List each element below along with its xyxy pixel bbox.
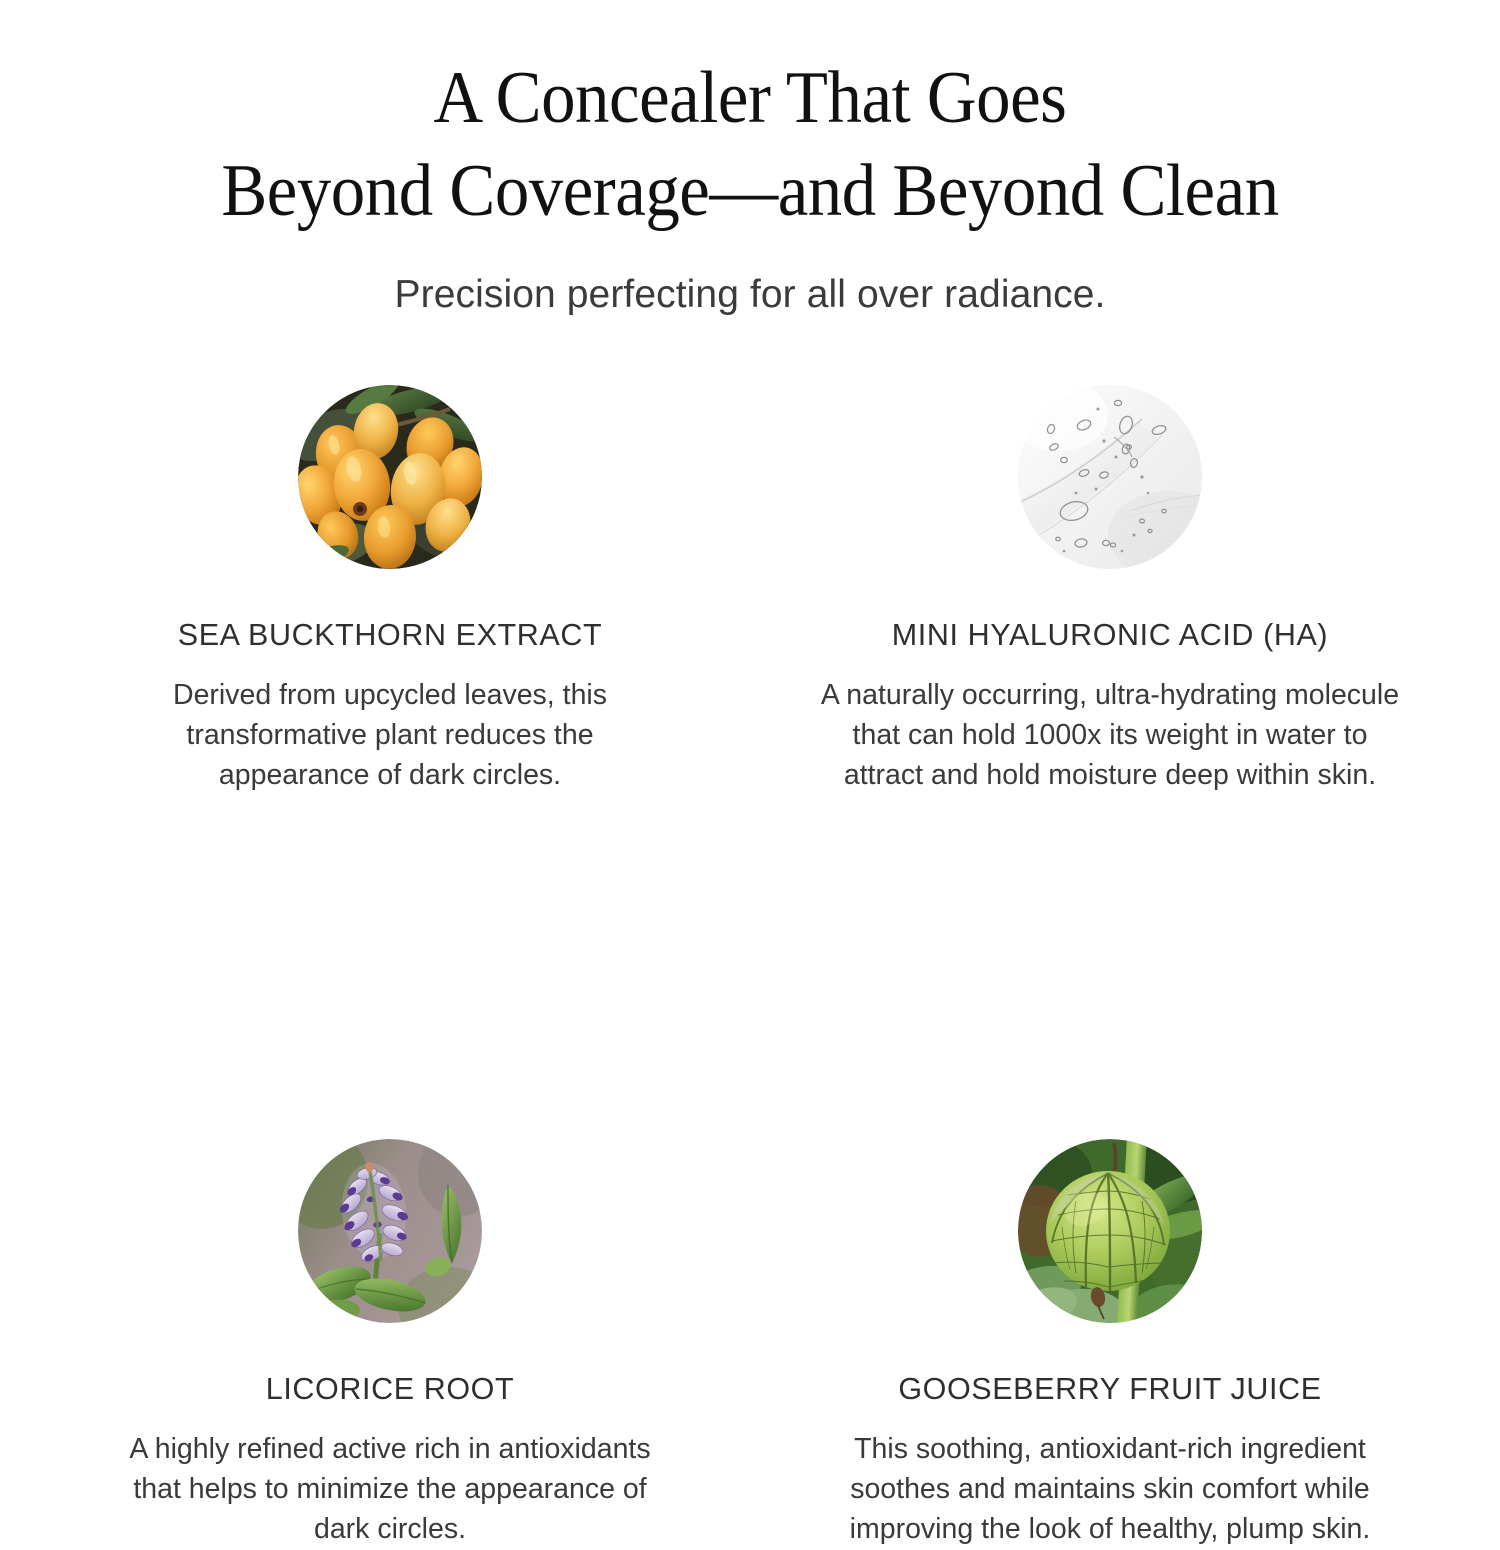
hyaluronic-acid-gel-texture-photo	[1018, 385, 1202, 569]
ingredient-title: SEA BUCKTHORN EXTRACT	[178, 619, 602, 653]
page-title: A Concealer That Goes Beyond Coverage—an…	[127, 52, 1373, 237]
sea-buckthorn-berries-photo	[298, 385, 482, 569]
page-header: A Concealer That Goes Beyond Coverage—an…	[0, 0, 1500, 317]
headline-line-1: A Concealer That Goes	[127, 52, 1373, 145]
ingredient-title: GOOSEBERRY FRUIT JUICE	[898, 1373, 1321, 1407]
ingredient-title: LICORICE ROOT	[266, 1373, 514, 1407]
ingredient-card-licorice-root: LICORICE ROOT A highly refined active ri…	[60, 796, 720, 1550]
ingredient-card-gooseberry: GOOSEBERRY FRUIT JUICE This soothing, an…	[780, 796, 1440, 1550]
licorice-root-flower-photo	[298, 1139, 482, 1323]
ingredient-description: A naturally occurring, ultra-hydrating m…	[818, 675, 1403, 796]
gooseberry-fruit-husk-photo	[1018, 1139, 1202, 1323]
ingredient-grid: SEA BUCKTHORN EXTRACT Derived from upcyc…	[60, 317, 1440, 1550]
ingredient-title: MINI HYALURONIC ACID (HA)	[892, 619, 1328, 653]
ingredient-description: This soothing, antioxidant-rich ingredie…	[818, 1429, 1403, 1550]
marketing-page: A Concealer That Goes Beyond Coverage—an…	[0, 0, 1500, 1500]
ingredient-card-sea-buckthorn: SEA BUCKTHORN EXTRACT Derived from upcyc…	[60, 385, 720, 796]
ingredient-card-hyaluronic-acid: MINI HYALURONIC ACID (HA) A naturally oc…	[780, 385, 1440, 796]
page-subtitle: Precision perfecting for all over radian…	[0, 273, 1500, 317]
ingredient-description: A highly refined active rich in antioxid…	[120, 1429, 660, 1550]
ingredient-description: Derived from upcycled leaves, this trans…	[120, 675, 660, 796]
headline-line-2: Beyond Coverage—and Beyond Clean	[127, 145, 1373, 238]
